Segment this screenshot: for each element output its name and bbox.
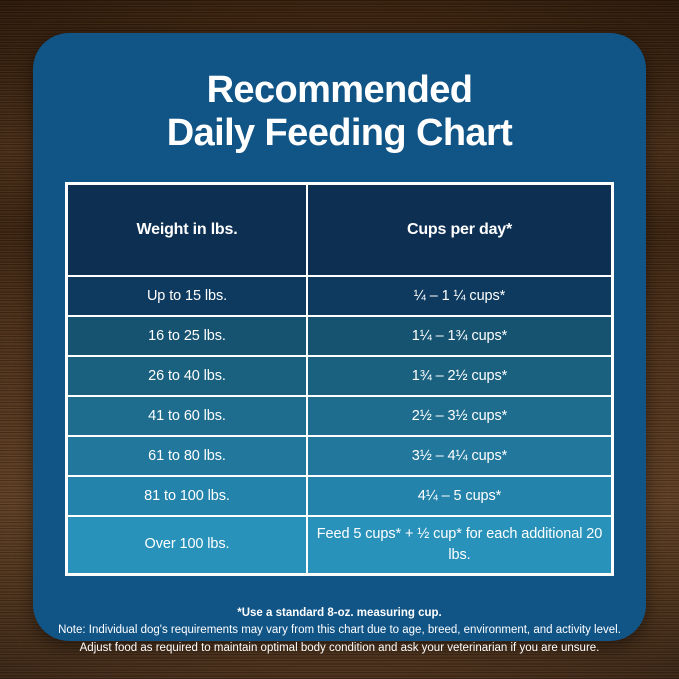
- feeding-table-head: Weight in lbs. Cups per day*: [67, 184, 612, 276]
- table-row: 41 to 60 lbs. 2½ – 3½ cups*: [67, 396, 612, 436]
- cell-weight: 16 to 25 lbs.: [67, 316, 307, 356]
- table-header-row: Weight in lbs. Cups per day*: [67, 184, 612, 276]
- footnotes: *Use a standard 8-oz. measuring cup. Not…: [33, 605, 646, 657]
- table-row: 61 to 80 lbs. 3½ – 4¼ cups*: [67, 436, 612, 476]
- feeding-chart-card: Recommended Daily Feeding Chart Weight i…: [33, 33, 646, 641]
- feeding-table-container: Weight in lbs. Cups per day* Up to 15 lb…: [65, 182, 614, 576]
- feeding-table: Weight in lbs. Cups per day* Up to 15 lb…: [65, 182, 614, 576]
- table-row: 81 to 100 lbs. 4¼ – 5 cups*: [67, 476, 612, 516]
- column-header-weight: Weight in lbs.: [67, 184, 307, 276]
- page-title: Recommended Daily Feeding Chart: [33, 69, 646, 154]
- cell-weight: Over 100 lbs.: [67, 516, 307, 574]
- cell-cups: 3½ – 4¼ cups*: [307, 436, 612, 476]
- cell-weight: Up to 15 lbs.: [67, 276, 307, 316]
- page-title-line-2: Daily Feeding Chart: [59, 112, 620, 155]
- cell-cups: ¼ – 1 ¼ cups*: [307, 276, 612, 316]
- column-header-cups: Cups per day*: [307, 184, 612, 276]
- footnote-measuring-cup: *Use a standard 8-oz. measuring cup.: [47, 605, 632, 622]
- feeding-table-body: Up to 15 lbs. ¼ – 1 ¼ cups* 16 to 25 lbs…: [67, 276, 612, 574]
- table-row: 16 to 25 lbs. 1¼ – 1¾ cups*: [67, 316, 612, 356]
- page-title-line-1: Recommended: [59, 69, 620, 112]
- cell-cups: 2½ – 3½ cups*: [307, 396, 612, 436]
- cell-weight: 41 to 60 lbs.: [67, 396, 307, 436]
- cell-cups: Feed 5 cups* + ½ cup* for each additiona…: [307, 516, 612, 574]
- cell-cups: 4¼ – 5 cups*: [307, 476, 612, 516]
- cell-weight: 81 to 100 lbs.: [67, 476, 307, 516]
- cell-cups: 1¾ – 2½ cups*: [307, 356, 612, 396]
- footnote-adjust: Adjust food as required to maintain opti…: [47, 640, 632, 657]
- cell-weight: 61 to 80 lbs.: [67, 436, 307, 476]
- table-row: Up to 15 lbs. ¼ – 1 ¼ cups*: [67, 276, 612, 316]
- cell-weight: 26 to 40 lbs.: [67, 356, 307, 396]
- wood-background: Recommended Daily Feeding Chart Weight i…: [0, 0, 679, 679]
- footnote-note: Note: Individual dog's requirements may …: [47, 622, 632, 639]
- table-row: Over 100 lbs. Feed 5 cups* + ½ cup* for …: [67, 516, 612, 574]
- cell-cups: 1¼ – 1¾ cups*: [307, 316, 612, 356]
- table-row: 26 to 40 lbs. 1¾ – 2½ cups*: [67, 356, 612, 396]
